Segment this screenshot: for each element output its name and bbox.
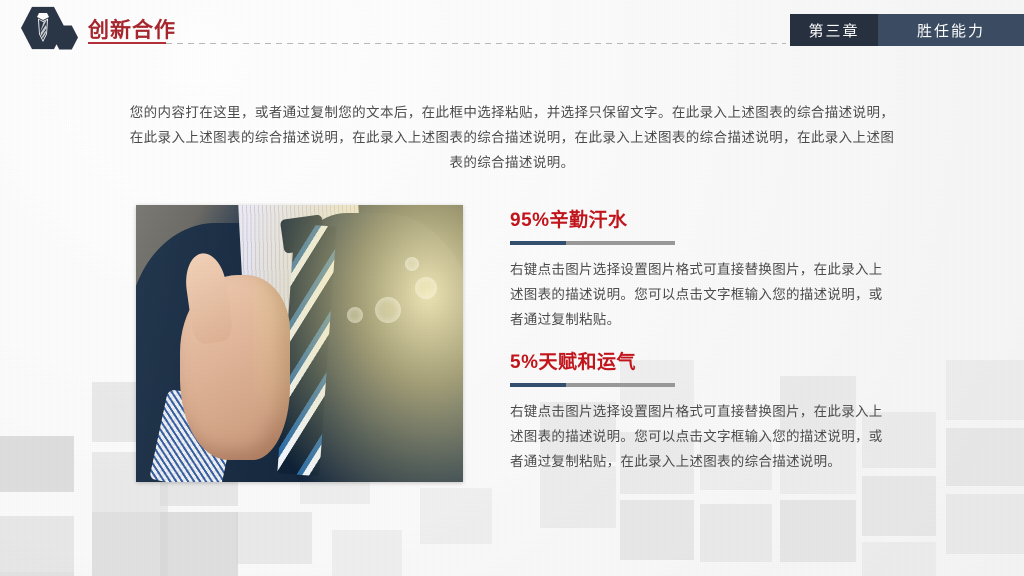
feature-heading: 5%天赋和运气 — [510, 347, 892, 374]
divider-navy-segment — [510, 383, 566, 387]
feature-body: 右键点击图片选择设置图片格式可直接替换图片，在此录入上述图表的描述说明。您可以点… — [510, 399, 892, 474]
feature-block-1: 95%辛勤汗水 右键点击图片选择设置图片格式可直接替换图片，在此录入上述图表的描… — [510, 205, 892, 332]
divider-gray-segment — [566, 241, 675, 245]
feature-divider — [510, 383, 675, 387]
necktie-icon — [31, 12, 55, 44]
logo — [17, 6, 83, 50]
photo-bokeh-dot — [375, 297, 401, 323]
slide-header: 创新合作 第三章 胜任能力 — [0, 0, 1024, 52]
feature-block-2: 5%天赋和运气 右键点击图片选择设置图片格式可直接替换图片，在此录入上述图表的描… — [510, 347, 892, 474]
header-dashed-rule — [166, 43, 786, 44]
divider-gray-segment — [566, 383, 675, 387]
divider-navy-segment — [510, 241, 566, 245]
page-title: 创新合作 — [88, 14, 176, 44]
chapter-badge: 第三章 胜任能力 — [790, 14, 1024, 46]
chapter-name: 胜任能力 — [878, 14, 1024, 46]
feature-heading: 95%辛勤汗水 — [510, 205, 892, 232]
photo-light-flare — [253, 205, 463, 482]
intro-paragraph: 您的内容打在这里，或者通过复制您的文本后，在此框中选择粘贴，并选择只保留文字。在… — [128, 100, 896, 175]
chapter-number: 第三章 — [790, 14, 878, 46]
feature-body: 右键点击图片选择设置图片格式可直接替换图片，在此录入上述图表的描述说明。您可以点… — [510, 257, 892, 332]
feature-divider — [510, 241, 675, 245]
title-underline — [88, 42, 166, 44]
photo-bokeh-dot — [405, 257, 419, 271]
photo-bokeh-dot — [347, 307, 363, 323]
photo-bokeh-dot — [415, 277, 437, 299]
slide-canvas: 创新合作 第三章 胜任能力 您的内容打在这里，或者通过复制您的文本后，在此框中选… — [0, 0, 1024, 576]
businessman-thumbs-up-photo[interactable] — [136, 205, 463, 482]
